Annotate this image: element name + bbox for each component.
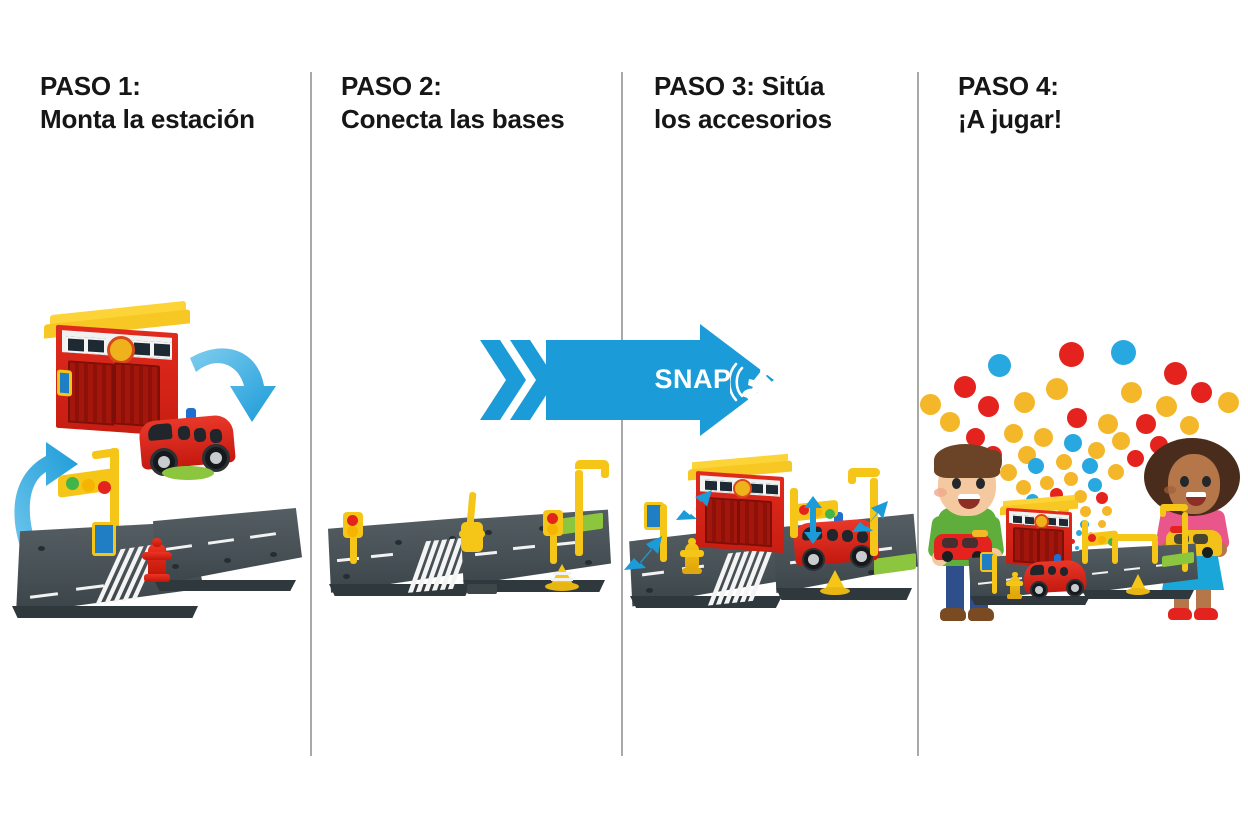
step-2-illustration	[319, 452, 619, 642]
instruction-sheet: PASO 1: Monta la estación	[0, 0, 1248, 832]
placement-arrow-1-icon	[622, 530, 670, 574]
road-base-plate-right	[150, 508, 302, 608]
traffic-cone-accessory	[545, 564, 579, 592]
snapping-fingers-icon	[730, 358, 786, 406]
placement-arrow-2-icon	[674, 486, 718, 524]
step-1-title: PASO 1: Monta la estación	[40, 70, 255, 137]
placement-arrow-4-icon	[848, 496, 894, 536]
traffic-cone-accessory	[1126, 574, 1150, 596]
step-4-title: PASO 4: ¡A jugar!	[958, 70, 1062, 137]
station-emblem-icon	[107, 336, 135, 364]
step-2-title: PASO 2: Conecta las bases	[341, 70, 565, 137]
snap-arrow-banner: SNAP	[478, 322, 778, 440]
step-3-illustration	[622, 452, 918, 652]
step-panel-4: PASO 4: ¡A jugar!	[918, 0, 1248, 832]
placement-arrow-3-icon	[800, 494, 826, 546]
step-4-illustration	[918, 330, 1248, 640]
fire-hydrant-accessory	[1006, 572, 1023, 600]
station-emblem-icon	[733, 479, 752, 498]
street-lamp-accessory	[557, 456, 609, 560]
fire-hydrant-accessory	[142, 538, 172, 584]
step-3-title: PASO 3: Sitúa los accesorios	[654, 70, 832, 137]
snap-label: SNAP	[648, 364, 738, 395]
traffic-light-left	[337, 512, 373, 562]
fire-hydrant-accessory	[680, 538, 704, 576]
fire-truck-toy	[1024, 554, 1086, 600]
fire-truck-toy	[140, 408, 238, 478]
guard-rail-accessory	[1112, 530, 1160, 564]
road-sign-accessory	[92, 522, 116, 556]
traffic-cone-accessory	[820, 570, 850, 596]
step-1-illustration	[0, 300, 311, 645]
finished-playset	[966, 498, 1198, 618]
hydrant-accessory	[459, 492, 485, 558]
base-connector-tab	[467, 584, 497, 594]
step-panel-1: PASO 1: Monta la estación	[0, 0, 311, 832]
